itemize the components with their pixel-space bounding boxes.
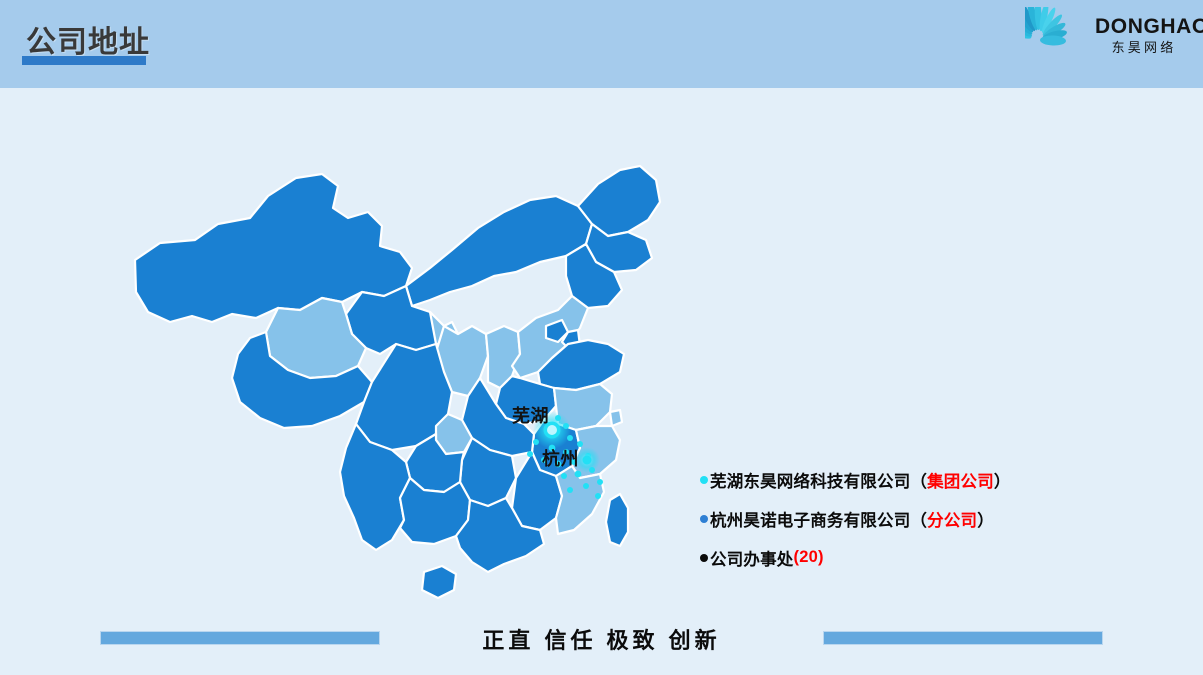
legend-label-branch-company: 杭州昊诺电子商务有限公司	[710, 507, 910, 531]
legend-item-branch-company: 杭州昊诺电子商务有限公司 （ 分公司 ）	[700, 499, 1100, 538]
legend-item-group-company: 芜湖东昊网络科技有限公司 （ 集团公司 ）	[700, 460, 1100, 499]
legend-bullet-group-company	[700, 476, 708, 484]
legend-count-offices: 20	[799, 548, 818, 567]
legend-item-offices: 公司办事处 ( 20 )	[700, 538, 1100, 577]
legend-bullet-branch-company	[700, 515, 708, 523]
municipality-shanghai	[610, 410, 622, 426]
province-inner-mongolia	[406, 196, 592, 306]
map-label-wuhu: 芜湖	[512, 402, 549, 428]
footer-bar-right	[823, 631, 1103, 645]
legend-bullet-offices	[700, 554, 708, 562]
legend-tag-group-company: 集团公司	[927, 468, 994, 492]
legend-paren-close-0: ）	[994, 468, 1011, 492]
province-hainan	[422, 566, 456, 598]
legend-tag-branch-company: 分公司	[927, 507, 977, 531]
legend-paren-open-1: （	[910, 507, 927, 531]
legend-label-offices: 公司办事处	[710, 546, 794, 570]
legend-paren-open-0: （	[910, 468, 927, 492]
logo-subtitle: 东昊网络	[1095, 41, 1193, 55]
map-label-hangzhou: 杭州	[542, 445, 579, 471]
donghao-fan-logo-icon	[1025, 7, 1101, 73]
logo-name: DONGHAO	[1095, 16, 1193, 38]
title-underline	[22, 56, 146, 65]
company-logo: DONGHAO 东昊网络	[1015, 4, 1195, 74]
page-title: 公司地址	[26, 17, 150, 61]
province-taiwan	[606, 494, 628, 546]
china-map-svg	[100, 100, 720, 610]
china-map: 芜湖 杭州	[100, 100, 720, 610]
legend-paren-close-1: ）	[977, 507, 994, 531]
legend-label-group-company: 芜湖东昊网络科技有限公司	[710, 468, 910, 492]
logo-text-block: DONGHAO 东昊网络	[1095, 16, 1193, 55]
legend-paren-close-2: )	[818, 548, 824, 567]
legend: 芜湖东昊网络科技有限公司 （ 集团公司 ） 杭州昊诺电子商务有限公司 （ 分公司…	[700, 460, 1100, 577]
